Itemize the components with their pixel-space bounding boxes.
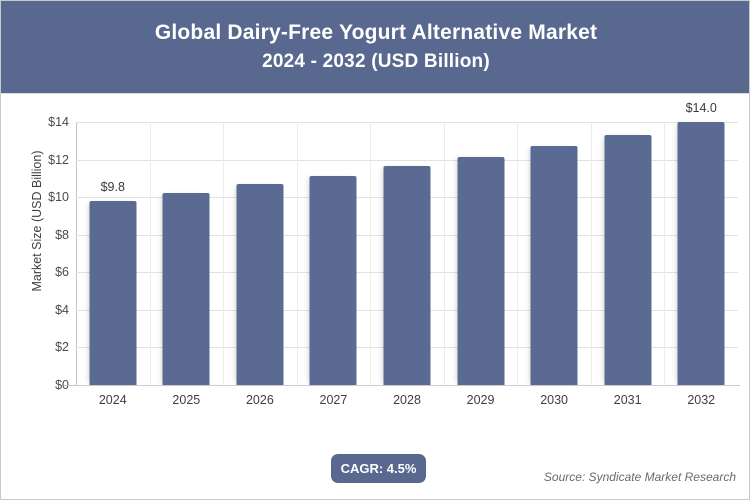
x-axis-tick-label: 2026 [246, 393, 274, 407]
cagr-badge: CAGR: 4.5% [331, 454, 426, 483]
bar-value-label: $14.0 [686, 101, 717, 115]
chart-subtitle: 2024 - 2032 (USD Billion) [262, 50, 490, 75]
bar[interactable] [310, 176, 357, 385]
bar-slot: $14.0 [664, 122, 738, 385]
chart-title: Global Dairy-Free Yogurt Alternative Mar… [155, 19, 597, 46]
bar[interactable] [163, 193, 210, 385]
bar-slot [370, 122, 444, 385]
bar[interactable] [604, 135, 651, 385]
bar[interactable] [236, 184, 283, 385]
x-axis-tick-label: 2031 [614, 393, 642, 407]
y-axis-ticks: $0$2$4$6$8$10$12$14 [17, 122, 69, 385]
y-axis-tick-label: $4 [25, 303, 69, 317]
chart-card: Market Size (USD Billion) $0$2$4$6$8$10$… [1, 93, 750, 500]
source-note: Source: Syndicate Market Research [544, 470, 736, 484]
y-axis-tick-label: $8 [25, 228, 69, 242]
bar-slot [591, 122, 665, 385]
x-axis-tick-label: 2027 [320, 393, 348, 407]
bar[interactable] [678, 122, 725, 385]
y-axis-tick-label: $0 [25, 378, 69, 392]
bar-slot [297, 122, 371, 385]
y-axis-tick-label: $12 [25, 153, 69, 167]
bar[interactable] [531, 146, 578, 385]
y-axis-tick-label: $6 [25, 265, 69, 279]
y-axis-tick-label: $2 [25, 340, 69, 354]
bar-slot [444, 122, 518, 385]
bar-slot [517, 122, 591, 385]
chart-page: Global Dairy-Free Yogurt Alternative Mar… [0, 0, 750, 500]
x-axis-tick-label: 2024 [99, 393, 127, 407]
plot-area: $9.8$14.0 [76, 122, 738, 385]
chart-header: Global Dairy-Free Yogurt Alternative Mar… [1, 1, 750, 93]
gridline [76, 385, 738, 386]
y-axis-tick-label: $14 [25, 115, 69, 129]
bar[interactable] [89, 201, 136, 385]
bar-value-label: $9.8 [101, 180, 125, 194]
bar[interactable] [383, 166, 430, 385]
x-axis-tick-label: 2028 [393, 393, 421, 407]
x-axis-tick-label: 2032 [687, 393, 715, 407]
x-axis-tick-label: 2029 [467, 393, 495, 407]
bar[interactable] [457, 157, 504, 385]
bar-slot [223, 122, 297, 385]
bar-slot [150, 122, 224, 385]
x-axis-tick-label: 2025 [172, 393, 200, 407]
y-axis-tick-label: $10 [25, 190, 69, 204]
x-axis-tick-label: 2030 [540, 393, 568, 407]
bar-slot: $9.8 [76, 122, 150, 385]
